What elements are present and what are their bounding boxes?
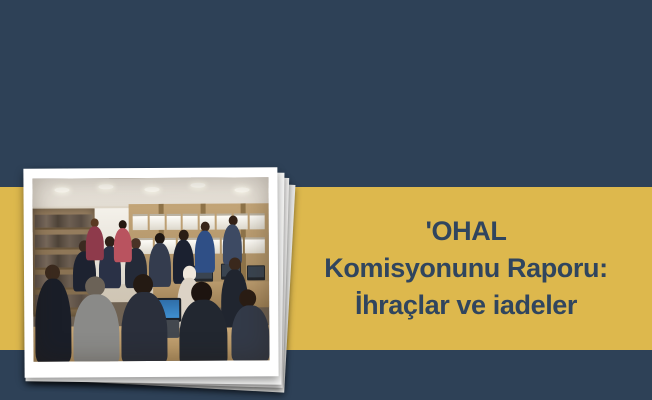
archive-box-row — [133, 213, 265, 230]
monitor-icon — [247, 265, 265, 280]
ceiling-light-icon — [98, 184, 113, 189]
banner-stage: 'OHAL Komisyonunu Raporu: İhraçlar ve ia… — [0, 0, 652, 400]
ceiling-light-icon — [144, 187, 159, 192]
photo-card[interactable] — [23, 167, 278, 378]
photo-stack[interactable] — [24, 168, 282, 382]
ceiling-light-icon — [190, 183, 205, 188]
ceiling-light-icon — [54, 187, 69, 192]
ceiling-light-icon — [234, 187, 249, 192]
news-photo — [32, 177, 269, 361]
